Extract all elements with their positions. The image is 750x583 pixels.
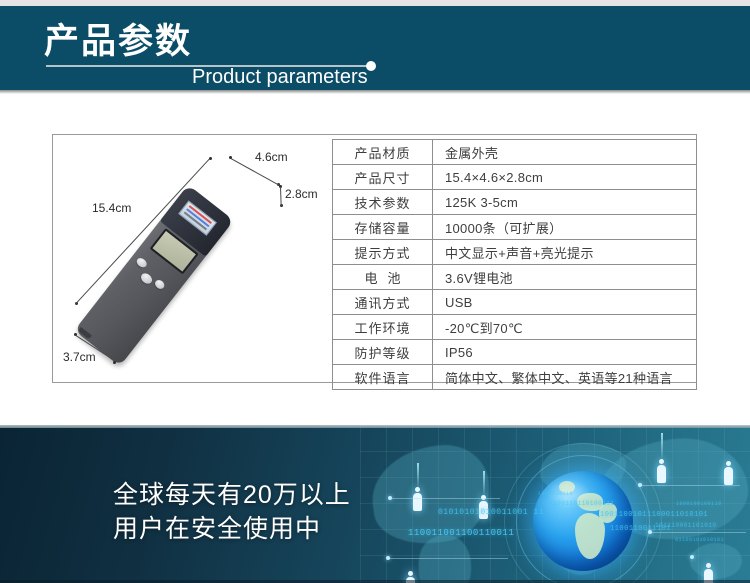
binary-text: 100110110100111 [553,500,615,507]
spec-value: 金属外壳 [433,140,697,165]
spec-table: 产品材质 金属外壳 产品尺寸 15.4×4.6×2.8cm 技术参数 125K … [332,139,697,390]
table-row: 提示方式 中文显示+声音+亮光提示 [333,240,697,265]
spec-value: 15.4×4.6×2.8cm [433,165,697,190]
table-row: 通讯方式 USB [333,290,697,315]
binary-text: 1001010110 [538,491,573,497]
spec-key: 通讯方式 [333,290,433,315]
dim-label-length: 15.4cm [92,201,131,215]
dim-line-height [280,187,282,206]
spec-table-body: 产品材质 金属外壳 产品尺寸 15.4×4.6×2.8cm 技术参数 125K … [333,140,697,390]
banner-headline-line-1: 全球每天有20万以上 [113,478,351,512]
spec-key: 工作环境 [333,315,433,340]
table-row: 电池 3.6V锂电池 [333,265,697,290]
dim-label-depth: 3.7cm [63,350,96,364]
spec-value: 简体中文、繁体中文、英语等21种语言 [433,365,697,390]
spec-value: USB [433,290,697,315]
spec-value: 10000条（可扩展） [433,215,697,240]
spec-value: 125K 3-5cm [433,190,697,215]
connector-node [648,530,652,534]
spec-key: 产品材质 [333,140,433,165]
connector-node [388,496,392,500]
banner-headline-line-2: 用户在安全使用中 [113,512,351,546]
table-row: 软件语言 简体中文、繁体中文、英语等21种语言 [333,365,697,390]
spec-key: 技术参数 [333,190,433,215]
spec-key: 防护等级 [333,340,433,365]
connector-line [390,498,500,499]
spec-key: 存储容量 [333,215,433,240]
spec-value: 3.6V锂电池 [433,265,697,290]
banner-top-edge [0,425,750,428]
spec-value: -20℃到70℃ [433,315,697,340]
product-photo: 15.4cm 4.6cm 2.8cm 3.7cm [53,135,331,382]
spec-key: 提示方式 [333,240,433,265]
continent-oceania [690,543,742,579]
table-row: 产品材质 金属外壳 [333,140,697,165]
person-icon [723,461,734,487]
table-row: 技术参数 125K 3-5cm [333,190,697,215]
connector-line [640,485,740,486]
light-beam-1 [417,463,419,489]
spec-value: 中文显示+声音+亮光提示 [433,240,697,265]
light-beam-3 [661,433,663,461]
spec-value: IP56 [433,340,697,365]
person-icon [412,487,423,513]
spec-key: 软件语言 [333,365,433,390]
binary-text: 01010101010011001 11 [438,508,544,517]
person-icon [656,459,667,485]
page-title: 产品参数 [44,22,192,62]
binary-text: 110011001100110011 [408,528,514,538]
connector-line [650,532,746,533]
page-header: 产品参数 Product parameters [0,6,750,90]
globe-icon [533,471,633,571]
spec-key: 产品尺寸 [333,165,433,190]
table-row: 产品尺寸 15.4×4.6×2.8cm [333,165,697,190]
table-row: 防护等级 IP56 [333,340,697,365]
binary-text: 10011001011100011010101 [600,511,708,519]
light-beam-2 [483,471,485,497]
connector-line [388,558,508,559]
page-subtitle: Product parameters [192,66,368,89]
table-row: 工作环境 -20℃到70℃ [333,315,697,340]
header-shadow [0,90,750,94]
binary-text: 101110001101010 [655,522,717,529]
spec-key: 电池 [333,265,433,290]
binary-text: 1000100100110 [676,501,722,507]
dim-label-width: 4.6cm [255,150,288,164]
connector-node [638,483,642,487]
connector-node [386,556,390,560]
connector-node [690,555,694,559]
binary-text: 01100101010101 [675,537,724,543]
dim-label-height: 2.8cm [285,187,318,201]
banner-headline: 全球每天有20万以上 用户在安全使用中 [113,478,351,546]
table-row: 存储容量 10000条（可扩展） [333,215,697,240]
